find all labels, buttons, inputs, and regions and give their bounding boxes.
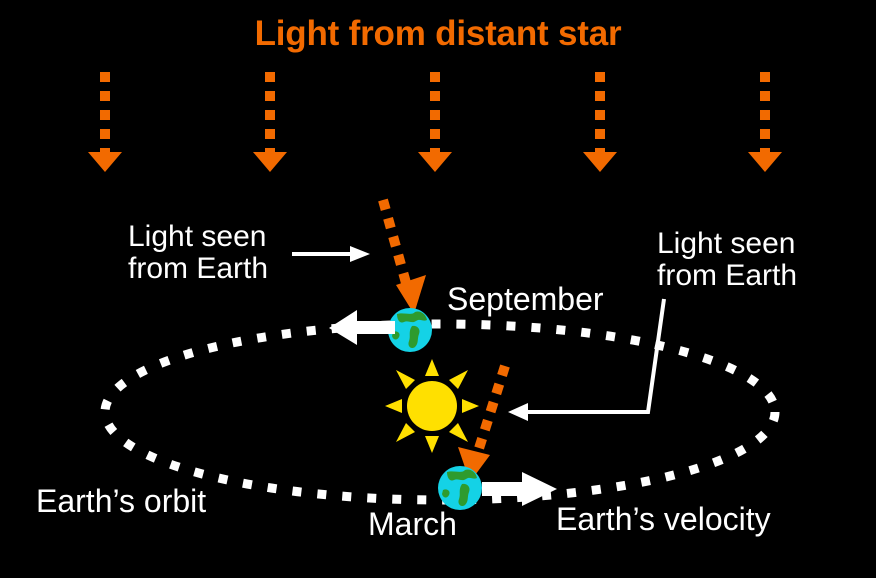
ray-to-september-earth	[378, 199, 426, 314]
earth-globe-march-icon	[438, 466, 482, 510]
sun-icon	[385, 359, 479, 453]
starlight-ray-5	[748, 72, 782, 172]
pointer-right-icon	[508, 299, 664, 421]
ray-to-march-earth	[458, 364, 510, 482]
label-light-seen-left: Light seen from Earth	[128, 221, 268, 285]
starlight-ray-4	[583, 72, 617, 172]
label-light-seen-right: Light seen from Earth	[657, 228, 797, 292]
parallax-diagram: Light from distant star	[0, 0, 876, 578]
starlight-ray-1	[88, 72, 122, 172]
label-september: September	[447, 283, 604, 317]
velocity-arrow-september-icon	[329, 310, 395, 345]
pointer-left-icon	[292, 246, 370, 262]
label-march: March	[368, 508, 457, 542]
label-earths-velocity: Earth’s velocity	[556, 503, 771, 537]
label-earths-orbit: Earth’s orbit	[36, 485, 206, 519]
starlight-ray-3	[418, 72, 452, 172]
starlight-ray-2	[253, 72, 287, 172]
